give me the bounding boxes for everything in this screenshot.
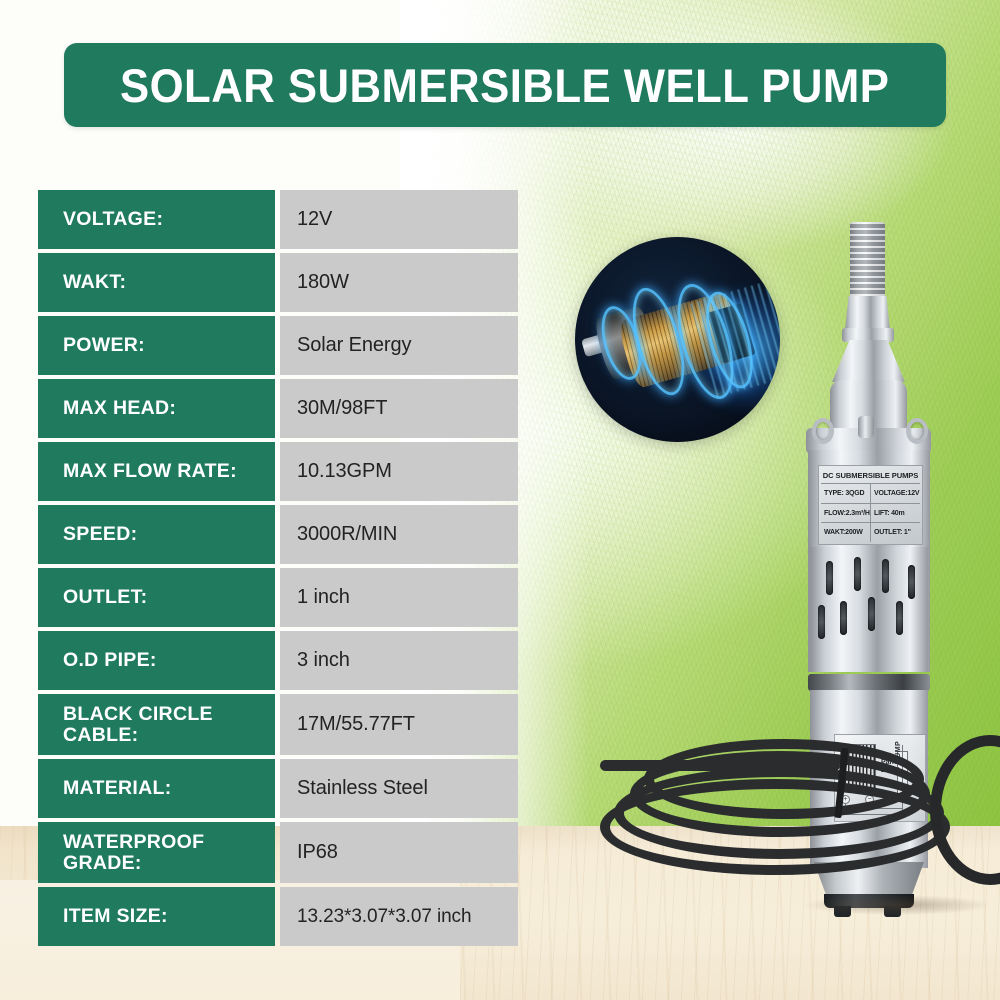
intake-slot bbox=[882, 559, 889, 593]
spec-label: VOLTAGE: bbox=[38, 190, 275, 249]
spec-label: MATERIAL: bbox=[38, 759, 275, 818]
table-row: ITEM SIZE: 13.23*3.07*3.07 inch bbox=[38, 887, 518, 946]
intake-slot bbox=[868, 597, 875, 631]
nameplate-cell: WAKT:200W bbox=[821, 523, 871, 542]
spec-value: Stainless Steel bbox=[280, 759, 518, 818]
table-row: BLACK CIRCLE CABLE: 17M/55.77FT bbox=[38, 694, 518, 755]
pump-taper bbox=[832, 340, 905, 382]
table-row: WAKT: 180W bbox=[38, 253, 518, 312]
nameplate-cell: LIFT: 40m bbox=[871, 504, 920, 523]
lifting-eyelet-icon bbox=[906, 418, 928, 444]
pump-drop-shadow bbox=[805, 895, 990, 915]
nameplate-cell: VOLTAGE:12V bbox=[871, 484, 920, 503]
spec-label: ITEM SIZE: bbox=[38, 887, 275, 946]
pump-intake-section bbox=[810, 547, 928, 672]
page-title: SOLAR SUBMERSIBLE WELL PUMP bbox=[120, 58, 889, 113]
spec-value: 10.13GPM bbox=[280, 442, 518, 501]
table-row: POWER: Solar Energy bbox=[38, 316, 518, 375]
table-row: VOLTAGE: 12V bbox=[38, 190, 518, 249]
table-row: MAX HEAD: 30M/98FT bbox=[38, 379, 518, 438]
product-infographic: SOLAR SUBMERSIBLE WELL PUMP DC SUBMERSIB… bbox=[0, 0, 1000, 1000]
spec-value: IP68 bbox=[280, 822, 518, 883]
spec-label: MAX FLOW RATE: bbox=[38, 442, 275, 501]
specifications-table: VOLTAGE: 12V WAKT: 180W POWER: Solar Ene… bbox=[38, 190, 518, 950]
lifting-eyelet-icon bbox=[812, 418, 834, 444]
pump-center-nub bbox=[858, 416, 874, 438]
spec-label: POWER: bbox=[38, 316, 275, 375]
pump-dark-band bbox=[808, 674, 930, 691]
nameplate-cell: OUTLET: 1" bbox=[871, 523, 920, 542]
spec-value: 12V bbox=[280, 190, 518, 249]
title-banner: SOLAR SUBMERSIBLE WELL PUMP bbox=[64, 43, 946, 127]
spec-value: 1 inch bbox=[280, 568, 518, 627]
nameplate-row: TYPE: 3QGD VOLTAGE:12V bbox=[821, 484, 920, 504]
pump-neck bbox=[845, 296, 890, 330]
spec-label: SPEED: bbox=[38, 505, 275, 564]
nameplate-cell: TYPE: 3QGD bbox=[821, 484, 871, 503]
table-row: MATERIAL: Stainless Steel bbox=[38, 759, 518, 818]
spec-label: BLACK CIRCLE CABLE: bbox=[38, 694, 275, 755]
intake-slot bbox=[896, 601, 903, 635]
intake-slot bbox=[840, 601, 847, 635]
intake-slot bbox=[826, 561, 833, 595]
pump-threaded-outlet bbox=[850, 222, 885, 298]
spec-label: MAX HEAD: bbox=[38, 379, 275, 438]
spec-value: 13.23*3.07*3.07 inch bbox=[280, 887, 518, 946]
cable-loop bbox=[600, 779, 950, 875]
nameplate-cell: FLOW:2.3m³/H bbox=[821, 504, 871, 523]
pump-nameplate: DC SUBMERSIBLE PUMPS TYPE: 3QGD VOLTAGE:… bbox=[818, 465, 923, 545]
motor-cutaway-inset bbox=[575, 237, 780, 442]
spec-value: 17M/55.77FT bbox=[280, 694, 518, 755]
spec-value: 3000R/MIN bbox=[280, 505, 518, 564]
table-row: SPEED: 3000R/MIN bbox=[38, 505, 518, 564]
table-row: O.D PIPE: 3 inch bbox=[38, 631, 518, 690]
spec-value: 30M/98FT bbox=[280, 379, 518, 438]
pump-collar bbox=[842, 328, 894, 342]
intake-slot bbox=[854, 557, 861, 591]
cable-run bbox=[600, 760, 840, 771]
nameplate-title: DC SUBMERSIBLE PUMPS bbox=[821, 469, 920, 484]
spec-label: WAKT: bbox=[38, 253, 275, 312]
spec-label: OUTLET: bbox=[38, 568, 275, 627]
table-row: WATERPROOF GRADE: IP68 bbox=[38, 822, 518, 883]
spec-label: O.D PIPE: bbox=[38, 631, 275, 690]
nameplate-row: WAKT:200W OUTLET: 1" bbox=[821, 523, 920, 542]
spec-label: WATERPROOF GRADE: bbox=[38, 822, 275, 883]
spec-value: 3 inch bbox=[280, 631, 518, 690]
spec-value: Solar Energy bbox=[280, 316, 518, 375]
nameplate-row: FLOW:2.3m³/H LIFT: 40m bbox=[821, 504, 920, 524]
intake-slot bbox=[818, 605, 825, 639]
spec-value: 180W bbox=[280, 253, 518, 312]
table-row: MAX FLOW RATE: 10.13GPM bbox=[38, 442, 518, 501]
table-row: OUTLET: 1 inch bbox=[38, 568, 518, 627]
intake-slot bbox=[908, 565, 915, 599]
